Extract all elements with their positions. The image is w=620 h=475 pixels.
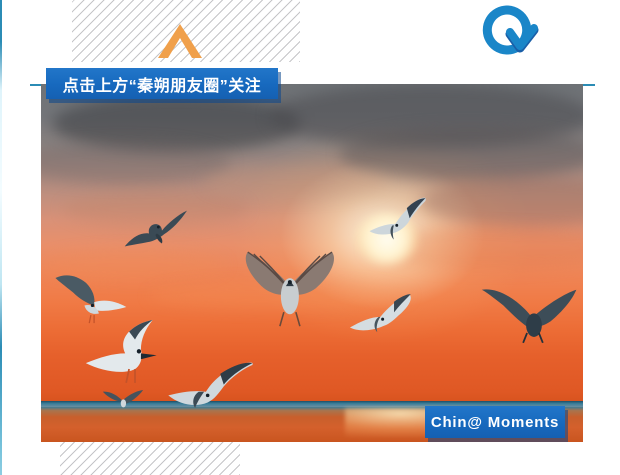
chevron-up-icon	[154, 18, 206, 60]
seagull	[139, 356, 280, 428]
seagull	[106, 202, 204, 259]
frame-line-left	[0, 0, 2, 347]
sunset-seagulls-photo	[41, 84, 583, 442]
follow-prompt-badge[interactable]: 点击上方“秦朔朋友圈”关注	[46, 68, 278, 99]
frame-line-right	[0, 347, 2, 475]
poster-canvas: 点击上方“秦朔朋友圈”关注 Chin@ Moments	[0, 0, 620, 475]
chin-moments-badge[interactable]: Chin@ Moments	[425, 406, 565, 438]
seagull	[355, 191, 447, 248]
diagonal-hatch-pattern-bottom	[60, 442, 240, 475]
seagull	[90, 381, 155, 417]
seagull	[464, 270, 583, 349]
circle-check-logo-icon	[474, 4, 540, 62]
cloud-streak	[339, 127, 583, 181]
seagull	[328, 288, 442, 349]
